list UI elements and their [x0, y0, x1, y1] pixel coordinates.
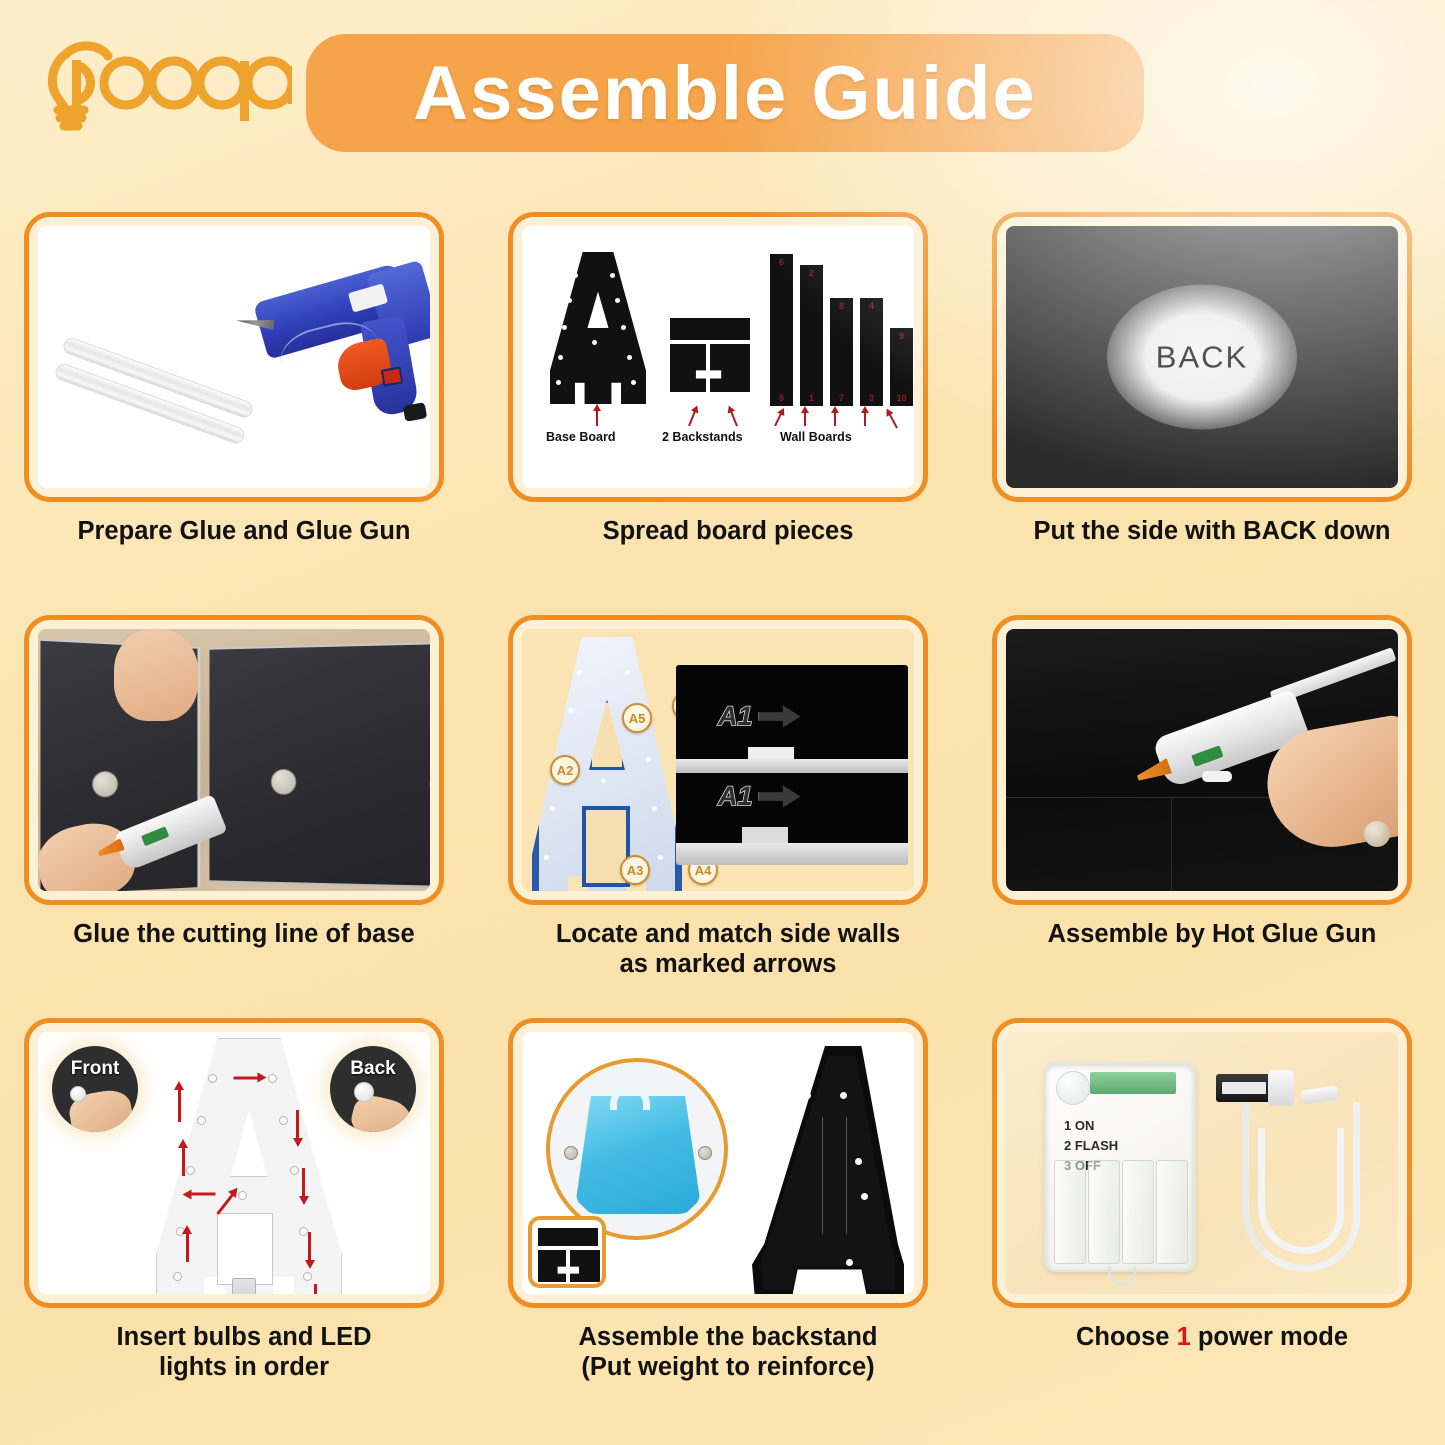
step-4-image	[38, 629, 430, 891]
title-banner: Assemble Guide	[306, 34, 1144, 152]
backstand-parts-inset	[528, 1216, 606, 1288]
magnet-dot	[1364, 821, 1390, 847]
step-6-caption: Assemble by Hot Glue Gun	[992, 919, 1432, 949]
wall-board: 8 7	[830, 298, 853, 406]
glue-blob	[1202, 771, 1232, 782]
hand-holding-board	[114, 629, 198, 721]
order-arrow-icon	[182, 1146, 185, 1176]
wall-board-number: 7	[830, 393, 853, 403]
inset-marker-a1: A1	[718, 701, 753, 732]
front-inset: Front	[52, 1046, 138, 1132]
power-mode-flash: 2 FLASH	[1064, 1136, 1118, 1156]
step-7-caption-line2: lights in order	[24, 1352, 464, 1382]
back-inset: Back	[330, 1046, 416, 1132]
step-2-frame: 6 5 2 1 8 7 4 3	[508, 212, 928, 502]
step-9-caption-suffix: power mode	[1191, 1323, 1348, 1351]
letter-a-bulb-map	[156, 1038, 342, 1294]
step-6-image	[1006, 629, 1398, 891]
pointer-arrow-icon	[730, 411, 738, 427]
wall-board-number: 1	[800, 393, 823, 403]
step-5-image: A5 A1 A2 A3 A4 A1 A1	[522, 629, 914, 891]
wall-board-number: 5	[770, 393, 793, 403]
step-8-caption-line1: Assemble the backstand	[508, 1322, 948, 1352]
page-title: Assemble Guide	[413, 50, 1037, 137]
step-3-frame: BACK	[992, 212, 1412, 502]
assembled-backstand	[752, 1046, 904, 1294]
step-8-frame	[508, 1018, 928, 1308]
wall-board-number: 4	[860, 301, 883, 311]
step-2-image: 6 5 2 1 8 7 4 3	[522, 226, 914, 488]
side-wall-arrow-inset: A1 A1	[676, 665, 908, 865]
badge-a3: A3	[620, 855, 650, 885]
pointer-arrow-icon	[596, 410, 598, 426]
step-8-caption: Assemble the backstand (Put weight to re…	[508, 1322, 948, 1382]
order-arrow-icon	[190, 1193, 216, 1196]
back-marking-text: BACK	[1156, 339, 1248, 375]
wall-board: 2 1	[800, 265, 823, 406]
step-9-caption-highlight: 1	[1177, 1323, 1191, 1351]
right-arrow-icon	[759, 786, 801, 808]
step-3-caption: Put the side with BACK down	[992, 516, 1432, 546]
step-7-caption: Insert bulbs and LED lights in order	[24, 1322, 464, 1382]
base-board-letter-a	[550, 252, 646, 404]
step-card-8: Assemble the backstand (Put weight to re…	[508, 1018, 963, 1382]
magnet-dot	[92, 771, 118, 797]
step-3-image: BACK	[1006, 226, 1398, 488]
water-bag-icon	[576, 1096, 700, 1214]
step-1-frame	[24, 212, 444, 502]
step-7-caption-line1: Insert bulbs and LED	[24, 1322, 464, 1352]
order-arrow-icon	[296, 1110, 299, 1140]
step-card-3: BACK Put the side with BACK down	[992, 212, 1445, 546]
step-5-caption: Locate and match side walls as marked ar…	[508, 919, 948, 979]
battery-box: 1 ON 2 FLASH 3 OFF	[1044, 1062, 1196, 1272]
blue-glue-gun-icon	[218, 256, 430, 446]
label-backstands: 2 Backstands	[662, 430, 743, 444]
step-card-5: A5 A1 A2 A3 A4 A1 A1	[508, 615, 963, 979]
order-arrow-icon	[308, 1232, 311, 1262]
step-7-frame: Front Back	[24, 1018, 444, 1308]
inset-marker-a1: A1	[718, 781, 753, 812]
step-4-caption: Glue the cutting line of base	[24, 919, 464, 949]
step-9-caption-prefix: Choose	[1076, 1323, 1177, 1351]
brand-logo	[22, 18, 292, 138]
step-9-caption: Choose 1 power mode	[992, 1322, 1432, 1352]
magnet-dot	[271, 769, 296, 795]
step-card-2: 6 5 2 1 8 7 4 3	[508, 212, 963, 546]
steps-grid: Prepare Glue and Glue Gun	[0, 200, 1445, 1445]
step-7-image: Front Back	[38, 1032, 430, 1294]
label-base-board: Base Board	[546, 430, 615, 444]
pointer-arrow-icon	[889, 413, 899, 428]
wall-board: 4 3	[860, 298, 883, 406]
wall-boards-group: 6 5 2 1 8 7 4 3	[770, 248, 914, 406]
order-arrow-icon	[314, 1284, 317, 1294]
power-button-icon	[1056, 1071, 1090, 1105]
wall-board-number: 2	[800, 268, 823, 278]
step-4-frame	[24, 615, 444, 905]
step-5-caption-line1: Locate and match side walls	[508, 919, 948, 949]
step-2-caption: Spread board pieces	[508, 516, 948, 546]
step-1-caption: Prepare Glue and Glue Gun	[24, 516, 464, 546]
base-board-right	[209, 642, 430, 888]
step-8-caption-line2: (Put weight to reinforce)	[508, 1352, 948, 1382]
water-bag-inset	[546, 1058, 728, 1240]
pointer-arrow-icon	[834, 412, 836, 426]
step-card-1: Prepare Glue and Glue Gun	[24, 212, 479, 546]
step-card-6: Assemble by Hot Glue Gun	[992, 615, 1445, 949]
back-label: Back	[350, 1058, 395, 1080]
back-marking-glow: BACK	[1107, 285, 1297, 430]
usb-plug-icon	[1216, 1074, 1272, 1102]
order-arrow-icon	[234, 1077, 260, 1080]
step-card-4: Glue the cutting line of base	[24, 615, 479, 949]
step-8-image	[522, 1032, 914, 1294]
wall-board: 9 10	[890, 328, 913, 406]
power-mode-on: 1 ON	[1064, 1116, 1118, 1136]
usb-cable	[1202, 1068, 1372, 1278]
step-6-frame	[992, 615, 1412, 905]
wall-board-number: 6	[770, 257, 793, 267]
pointer-arrow-icon	[864, 412, 866, 426]
right-arrow-icon	[759, 706, 801, 728]
order-arrow-icon	[178, 1088, 181, 1122]
step-5-caption-line2: as marked arrows	[508, 949, 948, 979]
pointer-arrow-icon	[804, 412, 806, 426]
wall-board-number: 9	[890, 331, 913, 341]
wall-board-number: 8	[830, 301, 853, 311]
pointer-arrow-icon	[688, 411, 696, 427]
label-wall-boards: Wall Boards	[780, 430, 852, 444]
order-arrow-icon	[302, 1168, 305, 1198]
wall-board-number: 10	[890, 393, 913, 403]
badge-a2: A2	[550, 755, 580, 785]
step-9-frame: 1 ON 2 FLASH 3 OFF	[992, 1018, 1412, 1308]
pointer-arrow-icon	[774, 413, 782, 427]
order-arrow-icon	[186, 1232, 189, 1262]
step-card-9: 1 ON 2 FLASH 3 OFF	[992, 1018, 1445, 1352]
backstand-pieces	[670, 318, 752, 396]
step-1-image	[38, 226, 430, 488]
page-header: Assemble Guide	[0, 0, 1445, 190]
front-label: Front	[71, 1058, 120, 1080]
wall-board-number: 3	[860, 393, 883, 403]
wall-board: 6 5	[770, 254, 793, 406]
step-9-image: 1 ON 2 FLASH 3 OFF	[1006, 1032, 1398, 1294]
badge-a5: A5	[622, 703, 652, 733]
step-card-7: Front Back Insert bulbs and LED lights i…	[24, 1018, 479, 1382]
step-5-frame: A5 A1 A2 A3 A4 A1 A1	[508, 615, 928, 905]
